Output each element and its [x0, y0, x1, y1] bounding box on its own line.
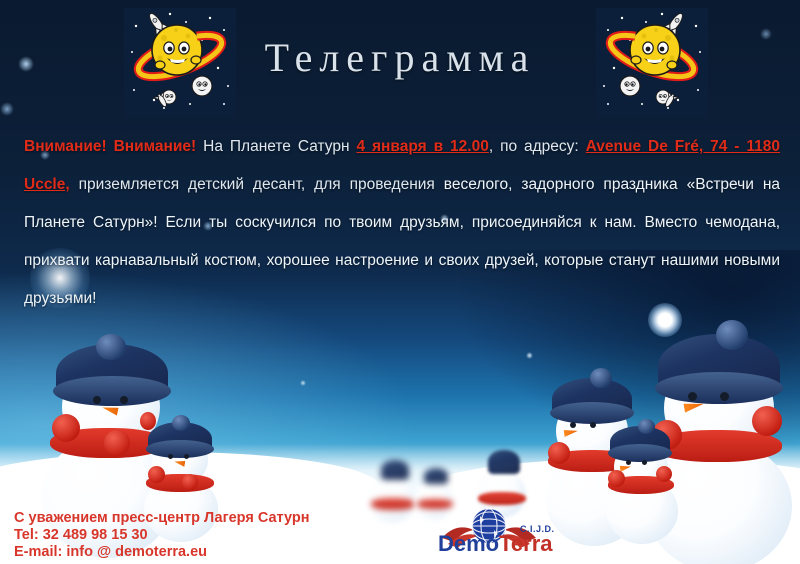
poster-canvas: Телеграмма Внимание! Внимание! На Планет… — [0, 0, 800, 564]
announcement-text: Внимание! Внимание! На Планете Сатурн 4 … — [24, 128, 780, 318]
logo-terra-text: Terra — [499, 531, 552, 556]
email-text: E-mail: info @ demoterra.eu — [14, 544, 434, 561]
logo-cijd-text: C.I.J.D. — [520, 524, 555, 534]
body-line-6: друзьями! — [24, 290, 96, 307]
signature-text: С уважением пресс-центр Лагеря Сатурн — [14, 510, 434, 527]
attention-text: Внимание! Внимание! — [24, 138, 196, 155]
page-title: Телеграмма — [0, 34, 800, 81]
logo-demo-text: Demo — [438, 531, 499, 556]
line1-end: , по адресу: — [489, 138, 579, 155]
body-line-5: костюм, хорошее настроение и своих друзе… — [204, 252, 780, 269]
logo-wordmark: DemoTerra — [438, 531, 553, 557]
header: Телеграмма — [0, 0, 800, 122]
snowman-small-right — [598, 420, 708, 538]
line2-rest: приземляется детский десант, для проведе… — [70, 176, 435, 193]
event-datetime: 4 января в 12.00 — [356, 138, 488, 155]
telephone-text: Tel: 32 489 98 15 30 — [14, 527, 434, 544]
line1-middle: На Планете Сатурн — [196, 138, 356, 155]
footer-contact: С уважением пресс-центр Лагеря Сатурн Te… — [14, 510, 434, 561]
